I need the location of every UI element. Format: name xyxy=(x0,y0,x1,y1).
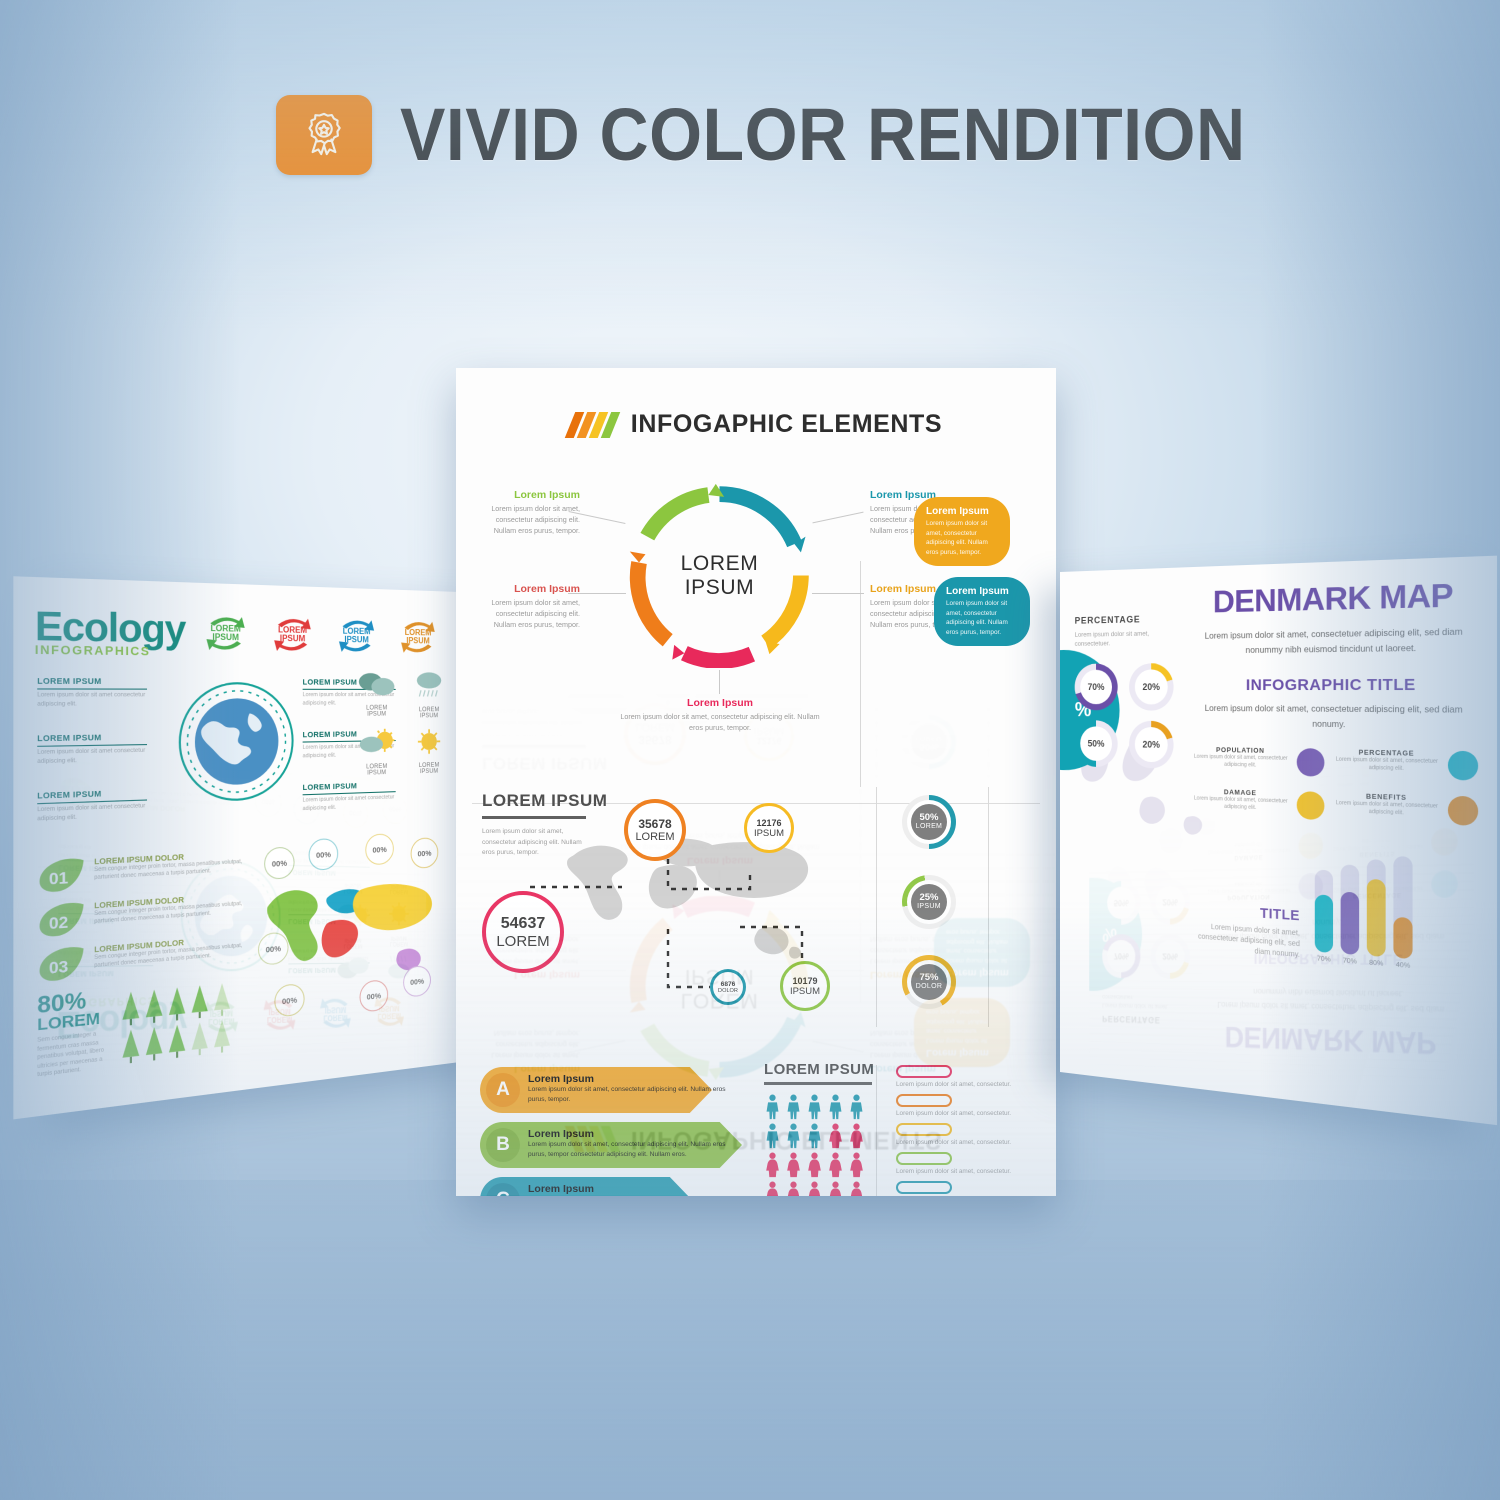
chart-title: TITLE xyxy=(1187,900,1300,923)
tree-icon xyxy=(120,1027,141,1065)
percent-ring-label: 20% xyxy=(1129,663,1173,711)
card-heading: Lorem Ipsum xyxy=(926,506,998,517)
percentage-block: PERCENTAGE Lorem ipsum dolor sit amet, c… xyxy=(1075,586,1182,815)
globe-label-body: Lorem ipsum dolor sit amet consectetur a… xyxy=(37,747,147,767)
recycle-badge-list: LOREM IPSUM LOREM IPSUM xyxy=(196,611,444,658)
ecology-infographic-panel[interactable]: Ecology INFOGRAPHICS LOREM IPSUM xyxy=(13,576,460,1119)
center-title: INFOGAPHIC ELEMENTS xyxy=(631,410,942,439)
recycle-badge: LOREM IPSUM xyxy=(329,615,383,657)
person-female-icon xyxy=(848,1152,865,1178)
weather-label: LOREM IPSUM xyxy=(409,762,449,775)
abc-letter: B xyxy=(486,1128,520,1162)
slash-logo-icon xyxy=(570,412,615,438)
person-male-icon xyxy=(806,1123,823,1149)
chart-body: Lorem ipsum dolor sit amet, consectetuer… xyxy=(1187,921,1300,962)
globe-label: LOREM IPSUM Lorem ipsum dolor sit amet c… xyxy=(37,787,147,824)
pill-legend-text: Lorem ipsum dolor sit amet, consectetur. xyxy=(896,1168,1020,1175)
globe-label-heading: LOREM IPSUM xyxy=(303,780,396,792)
bar-column: 70% xyxy=(1341,864,1360,966)
leaf-icon: 03 xyxy=(37,945,86,983)
globe-label-heading: LOREM IPSUM xyxy=(37,676,147,687)
sun-icon xyxy=(409,727,449,756)
map-bubble[interactable]: 54637 LOREM xyxy=(482,891,564,973)
tree-icon xyxy=(190,1020,210,1057)
cycle-center-line1: LOREM xyxy=(681,552,759,576)
pill-legend-text: Lorem ipsum dolor sit amet, consectetur. xyxy=(896,1110,1020,1117)
pill-legend-text: Lorem ipsum dolor sit amet, consectetur. xyxy=(896,1139,1020,1146)
person-female-icon xyxy=(827,1152,844,1178)
legend-dot-yellow xyxy=(1297,791,1325,820)
cycle-label: Lorem Ipsum Lorem ipsum dolor sit amet, … xyxy=(472,583,580,630)
globe-label-body: Lorem ipsum dolor sit amet consectetur a… xyxy=(37,803,147,825)
page-title: VIVID COLOR RENDITION xyxy=(400,92,1246,177)
tree-icon xyxy=(212,1018,232,1055)
cycle-label-heading: Lorem Ipsum xyxy=(472,489,580,501)
cycle-label-heading: Lorem Ipsum xyxy=(620,697,820,709)
people-grid xyxy=(764,1094,874,1197)
percent-ring-70-purple[interactable]: 70% xyxy=(1075,663,1118,710)
floor-reflection-surface xyxy=(0,1180,1500,1500)
abc-item-a[interactable]: A Lorem Ipsum Lorem ipsum dolor sit amet… xyxy=(480,1067,770,1113)
cycle-label-body: Lorem ipsum dolor sit amet, consectetur … xyxy=(472,504,580,536)
denmark-title: DENMARK MAP xyxy=(1191,577,1478,622)
bar-label: 70% xyxy=(1315,955,1333,964)
globe-label-heading: LOREM IPSUM xyxy=(37,787,147,801)
person-female-icon xyxy=(848,1181,865,1197)
abc-body: Lorem ipsum dolor sit amet, consectetur … xyxy=(528,1085,740,1104)
legend-item-population: POPULATION Lorem ipsum dolor sit amet, c… xyxy=(1191,746,1324,776)
globe-label: LOREM IPSUM Lorem ipsum dolor sit amet c… xyxy=(37,732,147,767)
legend-item-benefits: BENEFITS Lorem ipsum dolor sit amet, con… xyxy=(1333,792,1478,826)
person-female-icon xyxy=(764,1181,781,1197)
people-title: LOREM IPSUM xyxy=(764,1061,874,1078)
abc-body: Lorem ipsum dolor sit amet, consectetur … xyxy=(528,1140,740,1159)
scene: VIVID COLOR RENDITION Ecology INFOGRAPHI… xyxy=(0,0,1500,1500)
weather-item: LOREM IPSUM xyxy=(409,670,449,720)
abc-body: Lorem ipsum dolor sit amet, consectetur … xyxy=(528,1195,740,1196)
legend-body: Lorem ipsum dolor sit amet, consectetuer… xyxy=(1333,756,1441,774)
map-bubble[interactable]: 6876 DOLOR xyxy=(710,969,746,1005)
legend-dot-teal xyxy=(1448,751,1478,781)
cycle-label-body: Lorem ipsum dolor sit amet, consectetur … xyxy=(620,712,820,734)
cycle-label-body: Lorem ipsum dolor sit amet, consectetur … xyxy=(472,598,580,630)
weather-label: LOREM IPSUM xyxy=(409,707,449,719)
globe-label: LOREM IPSUM Lorem ipsum dolor sit amet c… xyxy=(37,676,147,710)
recycle-badge-line2: IPSUM xyxy=(406,637,429,646)
person-female-icon xyxy=(827,1181,844,1197)
person-male-icon xyxy=(848,1094,865,1120)
world-map-stats: LOREM IPSUM Lorem ipsum dolor sit amet, … xyxy=(472,779,1040,1049)
sun-cloud-icon xyxy=(356,728,398,758)
bar-chart-section: TITLE Lorem ipsum dolor sit amet, consec… xyxy=(1075,841,1478,976)
person-male-icon xyxy=(764,1094,781,1120)
recycle-badge: LOREM IPSUM xyxy=(196,611,255,655)
clouds-icon xyxy=(356,669,398,698)
pill-legend: Lorem ipsum dolor sit amet, consectetur.… xyxy=(896,1065,1020,1196)
person-female-icon xyxy=(785,1152,802,1178)
map-bubble[interactable]: 35678 LOREM xyxy=(624,799,686,861)
legend-dot-orange xyxy=(1448,796,1478,826)
tree-icon xyxy=(212,981,232,1018)
pill-legend-row[interactable]: Lorem ipsum dolor sit amet, consectetur. xyxy=(896,1123,1020,1146)
person-female-icon xyxy=(848,1123,865,1149)
person-female-icon xyxy=(806,1152,823,1178)
tree-icon xyxy=(167,985,188,1022)
legend-body: Lorem ipsum dolor sit amet, consectetuer… xyxy=(1191,754,1290,771)
abc-heading: Lorem Ipsum xyxy=(528,1073,740,1085)
tree-icon xyxy=(144,987,165,1024)
tree-icon xyxy=(120,990,141,1028)
person-female-icon xyxy=(806,1181,823,1197)
tree-icon xyxy=(144,1025,165,1063)
recycle-badge-line2: IPSUM xyxy=(344,636,368,645)
recycle-badge: LOREM IPSUM xyxy=(264,613,320,656)
denmark-legend: POPULATION Lorem ipsum dolor sit amet, c… xyxy=(1191,746,1478,826)
pill-legend-text: Lorem ipsum dolor sit amet, consectetur. xyxy=(896,1081,1020,1088)
cycle-label: Lorem Ipsum Lorem ipsum dolor sit amet, … xyxy=(472,489,580,536)
bar-column: 70% xyxy=(1315,870,1333,964)
card-body: Lorem ipsum dolor sit amet, consectetur … xyxy=(946,599,1018,637)
person-female-icon xyxy=(827,1123,844,1149)
people-pictogram: LOREM IPSUM xyxy=(764,1061,874,1196)
pill-legend-row[interactable]: Lorem ipsum dolor sit amet, consectetur. xyxy=(896,1065,1020,1088)
globe-label-body: Lorem ipsum dolor sit amet consectetur a… xyxy=(303,794,396,814)
person-male-icon xyxy=(827,1094,844,1120)
percent-ring-20-orange[interactable]: 20% xyxy=(1129,720,1173,768)
cycle-center-label: LOREM IPSUM xyxy=(627,483,812,668)
rain-cloud-icon xyxy=(409,670,449,701)
legend-body: Lorem ipsum dolor sit amet, consectetuer… xyxy=(1333,800,1441,820)
pill-legend-row[interactable]: Lorem ipsum dolor sit amet, consectetur. xyxy=(896,1094,1020,1117)
cycle-diagram: LOREM IPSUM Lorem Ipsum Lorem ipsum dolo… xyxy=(472,465,1040,765)
recycle-badge-line2: IPSUM xyxy=(212,633,239,643)
legend-dot-purple xyxy=(1297,748,1325,777)
person-male-icon xyxy=(764,1123,781,1149)
gauge-75[interactable]: 75%DOLOR xyxy=(902,955,956,1009)
trees-stat: 80% LOREM Sem congue integer a fermentum… xyxy=(37,977,232,1081)
infographic-title: INFOGRAPHIC TITLE xyxy=(1191,675,1478,694)
weather-item: LOREM IPSUM xyxy=(356,669,398,720)
recycle-badge: LOREM IPSUM xyxy=(392,616,444,658)
cycle-label: Lorem Ipsum Lorem ipsum dolor sit amet, … xyxy=(620,697,820,734)
legend-item-percentage: PERCENTAGE Lorem ipsum dolor sit amet, c… xyxy=(1333,749,1478,781)
award-badge xyxy=(276,95,372,175)
bar-label: 40% xyxy=(1393,961,1412,970)
leaf-item: 03 LOREM IPSUM DOLOR Sem congue integer … xyxy=(37,932,247,983)
person-male-icon xyxy=(785,1094,802,1120)
denmark-intro: Lorem ipsum dolor sit amet, consectetuer… xyxy=(1195,624,1473,657)
cycle-center-line2: IPSUM xyxy=(685,576,755,600)
globe-label-heading: LOREM IPSUM xyxy=(37,732,147,744)
percent-ring-50-teal[interactable]: 50% xyxy=(1075,720,1118,767)
tree-icon xyxy=(167,1023,188,1060)
leaf-item: 01 LOREM IPSUM DOLOR Sem congue integer … xyxy=(37,849,247,894)
svg-text:03: 03 xyxy=(49,957,68,978)
person-male-icon xyxy=(785,1123,802,1149)
person-male-icon xyxy=(806,1094,823,1120)
bar-chart: 70% 70% 80% 40% xyxy=(1315,852,1413,970)
weather-label: LOREM IPSUM xyxy=(356,705,398,718)
abc-letter: A xyxy=(486,1073,520,1107)
abc-heading: Lorem Ipsum xyxy=(528,1183,740,1195)
rounded-card-orange[interactable]: Lorem Ipsum Lorem ipsum dolor sit amet, … xyxy=(914,497,1010,566)
person-female-icon xyxy=(764,1152,781,1178)
percent-ring-20-yellow[interactable]: 20% xyxy=(1129,663,1173,711)
infographic-elements-panel[interactable]: INFOGAPHIC ELEMENTS xyxy=(456,368,1056,1196)
percentage-title: PERCENTAGE xyxy=(1075,613,1182,626)
gauge-25[interactable]: 25%IPSUM xyxy=(902,875,956,929)
card-heading: Lorem Ipsum xyxy=(946,586,1018,597)
rounded-card-teal[interactable]: Lorem Ipsum Lorem ipsum dolor sit amet, … xyxy=(934,577,1030,646)
abc-heading: Lorem Ipsum xyxy=(528,1128,740,1140)
pill-legend-row[interactable]: Lorem ipsum dolor sit amet, consectetur. xyxy=(896,1152,1020,1175)
svg-text:01: 01 xyxy=(49,869,69,889)
award-ribbon-icon xyxy=(298,109,350,161)
bar-column: 40% xyxy=(1393,856,1412,970)
globe-icon xyxy=(173,676,298,808)
weather-item: LOREM IPSUM xyxy=(409,727,449,775)
percent-ring-label: 70% xyxy=(1075,663,1118,710)
abc-item-b[interactable]: B Lorem Ipsum Lorem ipsum dolor sit amet… xyxy=(480,1122,770,1168)
map-bubble[interactable]: 12176 IPSUM xyxy=(744,803,794,853)
leaf-icon: 02 xyxy=(37,901,86,939)
bar-label: 80% xyxy=(1367,959,1386,968)
recycle-badge-line2: IPSUM xyxy=(280,635,306,644)
globe-diagram: LOREM IPSUM Lorem ipsum dolor sit amet c… xyxy=(35,669,444,841)
center-header: INFOGAPHIC ELEMENTS xyxy=(456,368,1056,439)
header: VIVID COLOR RENDITION xyxy=(276,92,1319,177)
bar-label: 70% xyxy=(1341,957,1360,966)
globe-label-body: Lorem ipsum dolor sit amet consectetur a… xyxy=(37,692,147,710)
map-bubble[interactable]: 10179 IPSUM xyxy=(780,961,830,1011)
legend-item-damage: DAMAGE Lorem ipsum dolor sit amet, conse… xyxy=(1191,788,1324,820)
trees-body: Sem congue integer a fermentum cras mass… xyxy=(37,1030,109,1081)
legend-body: Lorem ipsum dolor sit amet, consectetuer… xyxy=(1191,795,1290,814)
percent-ring-label: 20% xyxy=(1129,720,1173,768)
globe-label: LOREM IPSUM Lorem ipsum dolor sit amet c… xyxy=(303,780,396,814)
person-female-icon xyxy=(785,1181,802,1197)
bottom-section: A Lorem Ipsum Lorem ipsum dolor sit amet… xyxy=(472,1061,1040,1196)
cycle-label-heading: Lorem Ipsum xyxy=(472,583,580,595)
colored-world-map: 00% 00% 00% 00% 00% 00% 00% 00% xyxy=(256,833,446,1046)
leaf-icon: 01 xyxy=(37,857,86,894)
tree-icon xyxy=(190,983,210,1020)
weather-label: LOREM IPSUM xyxy=(356,763,398,776)
percent-ring-label: 50% xyxy=(1075,720,1118,767)
weather-icon-grid: LOREM IPSUM LOREM IPSUM xyxy=(356,669,449,777)
weather-item: LOREM IPSUM xyxy=(356,728,398,777)
tree-pictogram-grid xyxy=(120,977,232,1071)
gauge-50[interactable]: 50%LOREM xyxy=(902,795,956,849)
percentage-body: Lorem ipsum dolor sit amet, consectetuer… xyxy=(1075,629,1182,650)
bar-column: 80% xyxy=(1367,859,1386,968)
infographic-body: Lorem ipsum dolor sit amet, consectetuer… xyxy=(1201,702,1466,734)
pill-legend-row[interactable]: Lorem ipsum dolor sit amet, consectetur. xyxy=(896,1181,1020,1196)
abc-item-c[interactable]: C Lorem Ipsum Lorem ipsum dolor sit amet… xyxy=(480,1177,770,1196)
card-body: Lorem ipsum dolor sit amet, consectetur … xyxy=(926,519,998,557)
leaf-item: 02 LOREM IPSUM DOLOR Sem congue integer … xyxy=(37,891,247,939)
svg-text:02: 02 xyxy=(49,913,68,933)
denmark-map-panel[interactable]: % PERCENTAGE Lorem ipsum dolor sit amet,… xyxy=(1060,556,1497,1125)
